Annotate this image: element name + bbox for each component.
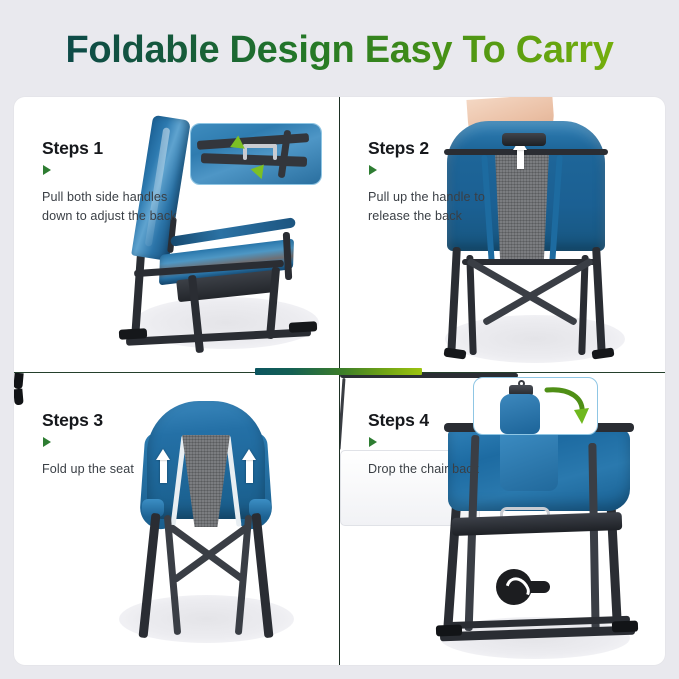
green-curved-arrow-icon: [544, 386, 590, 428]
green-triangle-icon: [369, 437, 377, 447]
divider-accent-bar: [255, 368, 422, 375]
green-triangle-icon: [43, 437, 51, 447]
step-1-description: Pull both side handles down to adjust th…: [42, 188, 192, 226]
step-panel-2: Steps 2 Pull up the handle to release th…: [340, 97, 665, 372]
white-arrow-up-icon: [242, 449, 256, 460]
frame-foot-cap: [612, 621, 638, 633]
frame-foot-tip: [14, 373, 24, 389]
folded-chair-bag: [500, 394, 540, 434]
step-4-inset-panel: [473, 377, 598, 435]
frame-foot-cap: [591, 348, 614, 360]
step-3-text-block: Steps 3 Fold up the seat: [42, 411, 192, 479]
strap-cord: [340, 378, 346, 450]
frame-foot-cap: [443, 348, 466, 360]
steps-card: Steps 1 Pull both side handles down to a…: [14, 97, 665, 665]
green-triangle-icon: [369, 165, 377, 175]
step-panel-3: Steps 3 Fold up the seat: [14, 373, 339, 665]
frame-foot-cap: [289, 321, 317, 332]
frame-foot-cap: [436, 625, 462, 637]
white-arrow-stem: [517, 147, 524, 169]
wheel-hub-accent: [530, 581, 550, 593]
step-1-label: Steps 1: [42, 139, 192, 158]
step-panel-4: Steps 4 Drop the chair back: [340, 373, 665, 665]
step-2-description: Pull up the handle to release the back: [368, 188, 518, 226]
step-2-label: Steps 2: [368, 139, 518, 158]
step-panel-1: Steps 1 Pull both side handles down to a…: [14, 97, 339, 372]
inset-handle-grip: [243, 144, 277, 148]
frame-foot-cap: [119, 328, 147, 339]
green-triangle-icon: [43, 165, 51, 175]
step-3-description: Fold up the seat: [42, 460, 192, 479]
release-handle: [502, 133, 546, 146]
step-3-label: Steps 3: [42, 411, 192, 430]
step-1-text-block: Steps 1 Pull both side handles down to a…: [42, 139, 192, 227]
step-4-description: Drop the chair back: [368, 460, 518, 479]
page-header: Foldable Design Easy To Carry: [0, 22, 679, 78]
step-1-inset-panel: [190, 123, 322, 185]
frame-foot-tip: [14, 389, 24, 406]
page-title: Foldable Design Easy To Carry: [65, 29, 613, 72]
step-2-text-block: Steps 2 Pull up the handle to release th…: [368, 139, 518, 227]
vertical-divider: [339, 97, 340, 665]
white-arrow-stem: [246, 459, 253, 483]
inset-handle-leg: [273, 144, 277, 160]
wheel-hub-icon: [496, 569, 532, 605]
